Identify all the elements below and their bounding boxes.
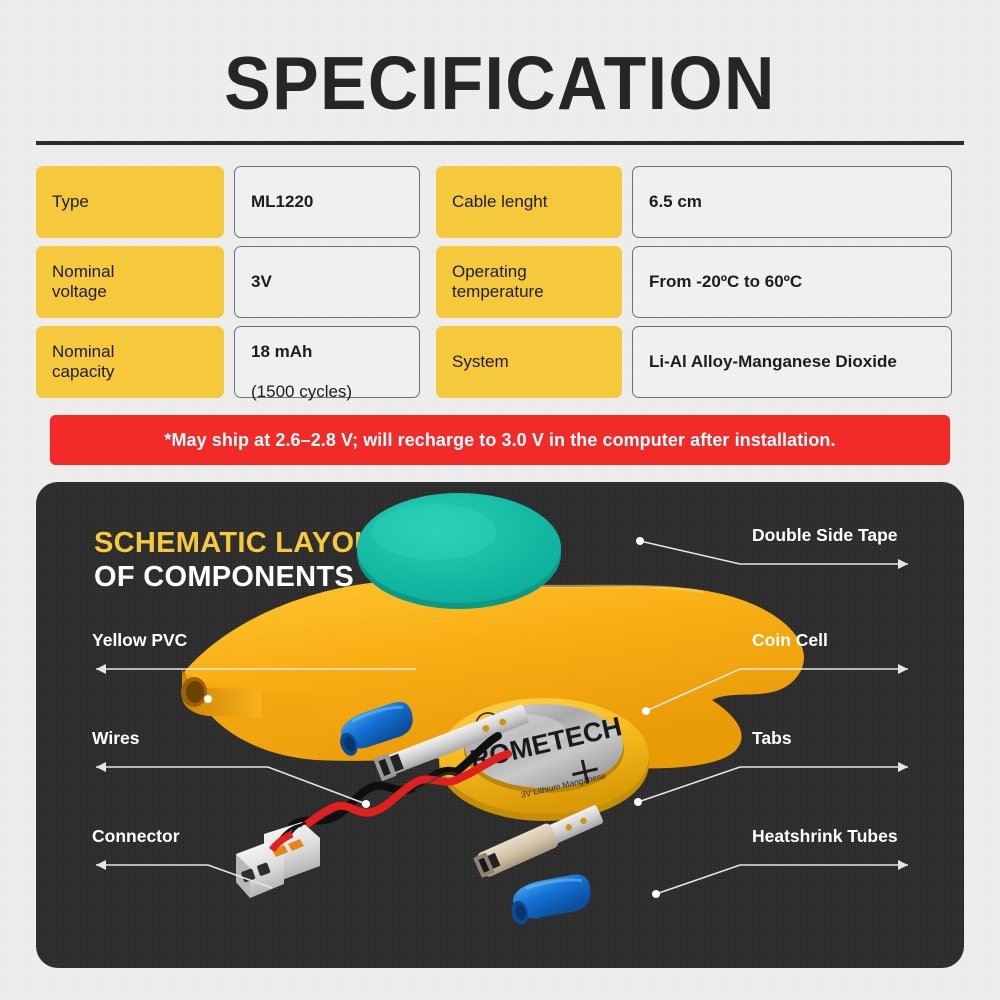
arrow-tabs <box>898 762 908 772</box>
arrow-heatshrink-tubes <box>898 860 908 870</box>
column-gap <box>420 166 436 238</box>
leader-heatshrink-tubes <box>656 865 908 894</box>
anchor-coin-cell <box>642 707 650 715</box>
leader-lines <box>36 482 964 968</box>
spec-value-type: ML1220 <box>234 166 420 238</box>
schematic-panel: SCHEMATIC LAYOUT OF COMPONENTS <box>36 482 964 968</box>
arrow-yellow-pvc <box>96 664 106 674</box>
title-divider <box>36 141 964 145</box>
spec-value-nominal-voltage: 3V <box>234 246 420 318</box>
spec-key-nominal-voltage: Nominal voltage <box>36 246 224 318</box>
leader-wires <box>96 767 366 804</box>
spec-value-system: Li-Al Alloy-Manganese Dioxide <box>632 326 952 398</box>
spec-value-operating-temperature: From -20ºC to 60ºC <box>632 246 952 318</box>
spec-value-nominal-capacity: 18 mAh (1500 cycles) <box>234 326 420 398</box>
spec-key-nominal-capacity: Nominal capacity <box>36 326 224 398</box>
anchor-heatshrink-tubes <box>652 890 660 898</box>
arrow-wires <box>96 762 106 772</box>
specification-table: Type ML1220 Cable lenght 6.5 cm Nominal … <box>36 166 964 398</box>
label-heatshrink-tubes: Heatshrink Tubes <box>752 826 898 847</box>
leader-connector <box>96 865 272 888</box>
label-tabs: Tabs <box>752 728 792 749</box>
spec-value-capacity-stack: 18 mAh (1500 cycles) <box>251 323 352 402</box>
anchor-double-side-tape <box>636 537 644 545</box>
spec-key-type: Type <box>36 166 224 238</box>
spec-key-system: System <box>436 326 622 398</box>
anchor-yellow-pvc <box>204 695 212 703</box>
spec-value-capacity-main: 18 mAh <box>251 342 312 361</box>
spec-value-capacity-cycles: (1500 cycles) <box>251 382 352 401</box>
leader-coin-cell <box>646 669 908 711</box>
arrow-connector <box>96 860 106 870</box>
leader-tabs <box>638 767 908 802</box>
arrow-coin-cell <box>898 664 908 674</box>
spec-value-type-text: ML1220 <box>251 192 313 212</box>
label-wires: Wires <box>92 728 140 749</box>
anchor-wires <box>362 800 370 808</box>
spec-value-cable-length: 6.5 cm <box>632 166 952 238</box>
label-yellow-pvc: Yellow PVC <box>92 630 187 651</box>
column-gap <box>420 246 436 318</box>
page-title: SPECIFICATION <box>35 44 965 122</box>
arrow-double-side-tape <box>898 559 908 569</box>
label-double-side-tape: Double Side Tape <box>752 525 898 546</box>
spec-key-operating-temperature: Operating temperature <box>436 246 622 318</box>
label-connector: Connector <box>92 826 180 847</box>
column-gap <box>420 326 436 398</box>
shipping-voltage-warning: *May ship at 2.6–2.8 V; will recharge to… <box>50 415 950 465</box>
label-coin-cell: Coin Cell <box>752 630 828 651</box>
anchor-tabs <box>634 798 642 806</box>
spec-key-cable-length: Cable lenght <box>436 166 622 238</box>
